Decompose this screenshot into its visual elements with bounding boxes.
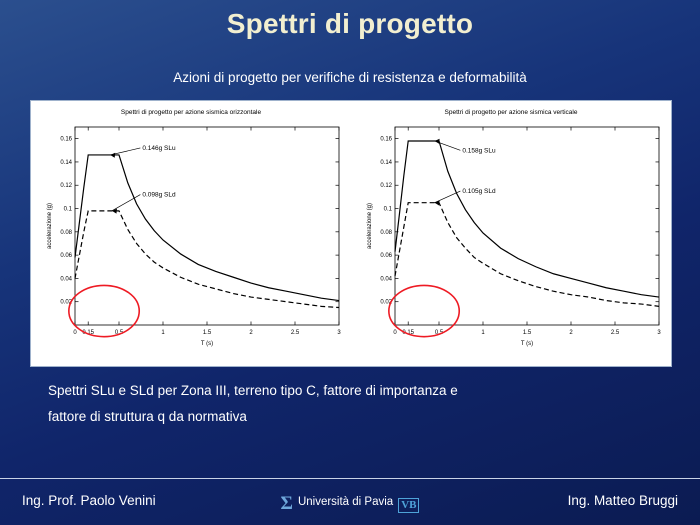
svg-text:0: 0 (393, 330, 397, 336)
svg-text:T (s): T (s) (201, 341, 213, 347)
body-line-2: fattore di struttura q da normativa (48, 404, 668, 430)
svg-text:0.105g SLd: 0.105g SLd (462, 188, 496, 195)
svg-text:accelerazione (g): accelerazione (g) (367, 203, 373, 249)
body-text: Spettri SLu e SLd per Zona III, terreno … (48, 378, 668, 430)
svg-text:2: 2 (249, 330, 253, 336)
page-title: Spettri di progetto (0, 8, 700, 40)
svg-text:2.5: 2.5 (611, 330, 620, 336)
svg-text:0.14: 0.14 (380, 160, 392, 166)
figure-panel: Spettri di progetto per azione sismica o… (30, 100, 672, 367)
svg-text:2.5: 2.5 (291, 330, 300, 336)
svg-text:0.06: 0.06 (380, 253, 392, 259)
svg-text:0: 0 (73, 330, 77, 336)
svg-text:0.04: 0.04 (380, 276, 392, 282)
chart-vertical-plot: 0.020.040.060.080.10.120.140.1600.150.51… (351, 115, 671, 360)
footer: Ing. Prof. Paolo Venini ΣUniversità di P… (0, 487, 700, 525)
slide-subtitle: Azioni di progetto per verifiche di resi… (0, 70, 700, 85)
svg-text:0.1: 0.1 (64, 207, 73, 213)
svg-text:0.158g SLu: 0.158g SLu (462, 147, 496, 154)
footer-divider (0, 478, 700, 479)
svg-text:1: 1 (481, 330, 485, 336)
svg-text:0.146g SLu: 0.146g SLu (142, 145, 176, 152)
svg-text:0.14: 0.14 (60, 160, 72, 166)
svg-text:0.12: 0.12 (380, 183, 392, 189)
svg-text:0.098g SLd: 0.098g SLd (142, 192, 176, 199)
svg-text:0.08: 0.08 (60, 230, 72, 236)
svg-text:0.1: 0.1 (384, 207, 393, 213)
svg-text:0.04: 0.04 (60, 276, 72, 282)
svg-text:3: 3 (657, 330, 661, 336)
svg-text:1.5: 1.5 (203, 330, 212, 336)
svg-text:0.16: 0.16 (60, 137, 72, 143)
svg-text:0.12: 0.12 (60, 183, 72, 189)
svg-text:1: 1 (161, 330, 165, 336)
svg-text:0.16: 0.16 (380, 137, 392, 143)
svg-text:T (s): T (s) (521, 341, 533, 347)
svg-text:1.5: 1.5 (523, 330, 532, 336)
svg-text:0.06: 0.06 (60, 253, 72, 259)
vb-logo-icon: VB (398, 498, 419, 513)
footer-right-author: Ing. Matteo Bruggi (568, 493, 678, 508)
chart-horizontal-plot: 0.020.040.060.080.10.120.140.1600.150.51… (31, 115, 351, 360)
svg-text:0.08: 0.08 (380, 230, 392, 236)
svg-text:accelerazione (g): accelerazione (g) (47, 203, 53, 249)
pavia-logo-icon: Σ (281, 493, 293, 515)
chart-vertical: Spettri di progetto per azione sismica v… (351, 101, 671, 366)
svg-text:2: 2 (569, 330, 573, 336)
footer-affiliation-label: Università di Pavia (298, 496, 393, 508)
svg-text:3: 3 (337, 330, 341, 336)
chart-horizontal: Spettri di progetto per azione sismica o… (31, 101, 351, 366)
body-line-1: Spettri SLu e SLd per Zona III, terreno … (48, 378, 668, 404)
